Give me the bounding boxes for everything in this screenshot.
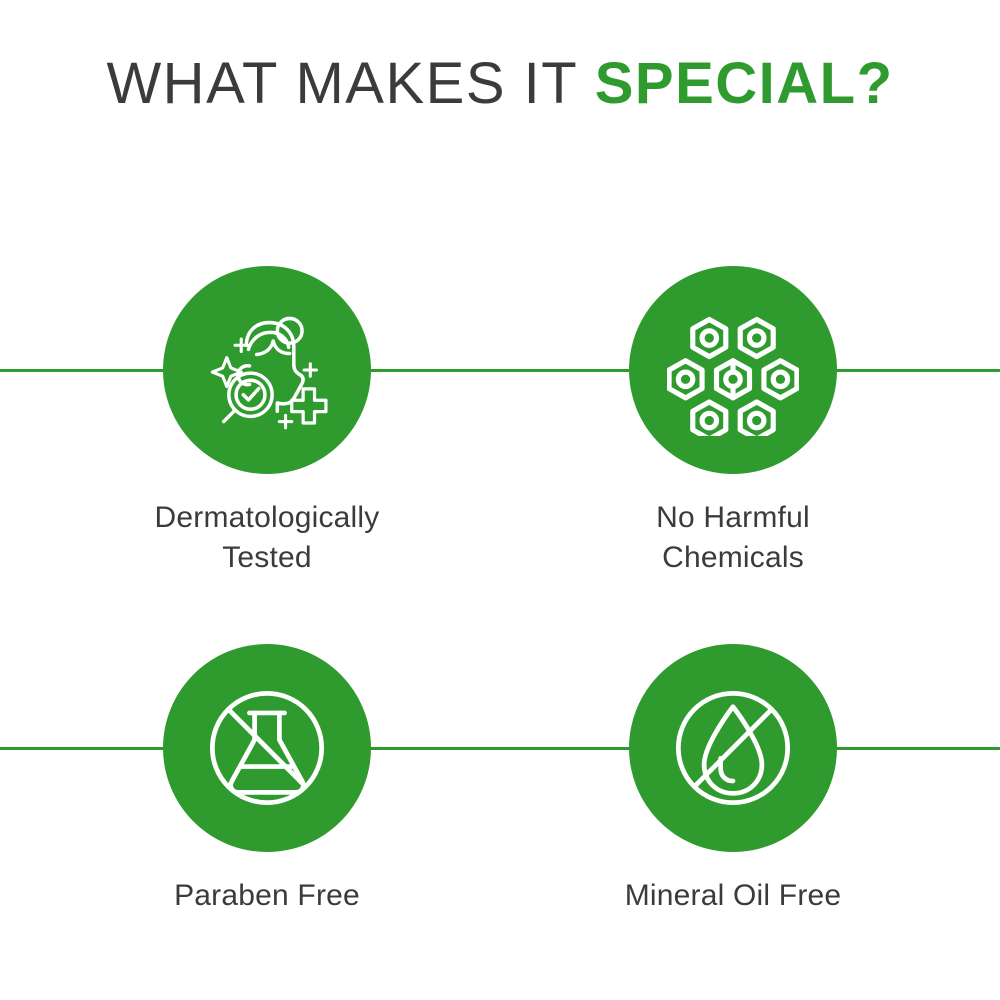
no-oil-droplet-icon <box>667 682 799 814</box>
page-title: WHAT MAKES IT SPECIAL? <box>0 48 1000 120</box>
infographic-page: WHAT MAKES IT SPECIAL? <box>0 0 1000 1000</box>
no-flask-icon <box>201 682 333 814</box>
feature-item-no-harmful-chemicals: No Harmful Chemicals <box>553 266 913 578</box>
face-magnifier-check-icon <box>201 304 333 436</box>
feature-label: No Harmful Chemicals <box>553 498 913 578</box>
feature-label: Mineral Oil Free <box>553 876 913 916</box>
feature-item-dermatologically-tested: Dermatologically Tested <box>87 266 447 578</box>
feature-item-paraben-free: Paraben Free <box>87 644 447 916</box>
feature-badge-dermatologically-tested <box>163 266 371 474</box>
page-title-plain: WHAT MAKES IT <box>106 51 594 116</box>
feature-badge-mineral-oil-free <box>629 644 837 852</box>
honeycomb-molecule-icon <box>667 304 799 436</box>
feature-label: Dermatologically Tested <box>87 498 447 578</box>
feature-badge-paraben-free <box>163 644 371 852</box>
feature-item-mineral-oil-free: Mineral Oil Free <box>553 644 913 916</box>
feature-badge-no-harmful-chemicals <box>629 266 837 474</box>
page-title-accent: SPECIAL? <box>595 51 894 116</box>
feature-label: Paraben Free <box>87 876 447 916</box>
